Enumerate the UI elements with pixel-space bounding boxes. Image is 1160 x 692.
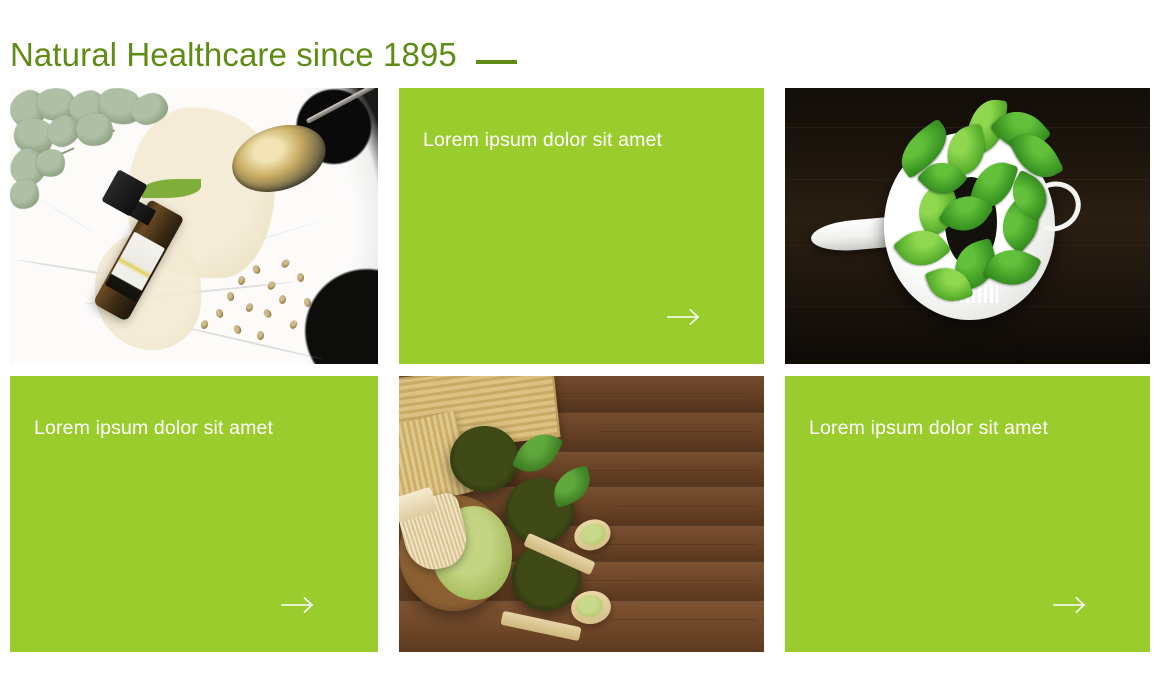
matcha-image xyxy=(399,376,764,652)
promo-card-3[interactable]: Lorem ipsum dolor sit amet xyxy=(785,376,1150,652)
spoon-handle xyxy=(305,88,378,124)
matcha-cup-1 xyxy=(450,426,519,492)
cbd-oil-image xyxy=(10,88,378,364)
promo-card-3-text: Lorem ipsum dolor sit amet xyxy=(809,416,1126,441)
tile-photo-matcha[interactable] xyxy=(399,376,764,652)
page-header: Natural Healthcare since 1895 xyxy=(10,30,517,78)
promo-card-2[interactable]: Lorem ipsum dolor sit amet xyxy=(10,376,378,652)
arrow-right-icon[interactable] xyxy=(281,596,315,614)
promo-card-1-text: Lorem ipsum dolor sit amet xyxy=(423,128,740,153)
page-root: Natural Healthcare since 1895 xyxy=(0,0,1160,692)
arrow-right-icon[interactable] xyxy=(1053,596,1087,614)
promo-card-1[interactable]: Lorem ipsum dolor sit amet xyxy=(399,88,764,364)
mint-teapot-image xyxy=(785,88,1150,364)
arrow-right-icon[interactable] xyxy=(667,308,701,326)
tile-photo-mint-teapot[interactable] xyxy=(785,88,1150,364)
promo-card-2-text: Lorem ipsum dolor sit amet xyxy=(34,416,354,441)
tile-photo-cbd-oil[interactable] xyxy=(10,88,378,364)
tile-grid: Lorem ipsum dolor sit amet xyxy=(10,88,1149,652)
page-title: Natural Healthcare since 1895 xyxy=(10,38,457,71)
title-underline-rule xyxy=(476,60,517,64)
